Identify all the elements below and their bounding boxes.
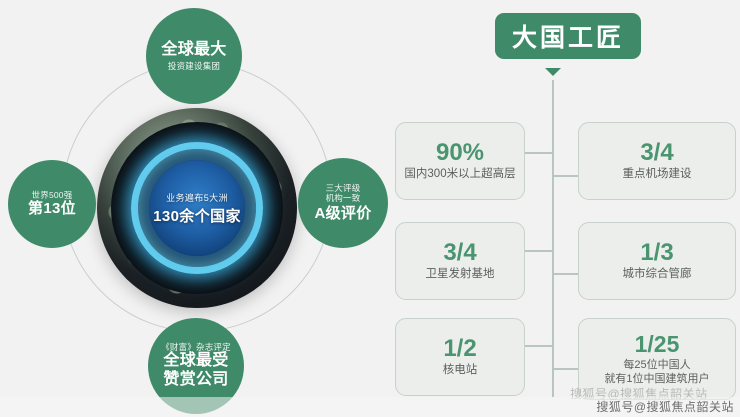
infographic-page: 业务遍布5大洲 130余个国家 全球最大 投资建设集团 世界500强 第13位 … (0, 0, 740, 417)
connector-line (552, 273, 580, 275)
stat-card-nuclear-plants[interactable]: 1/2 核电站 (395, 318, 525, 396)
node-largest-investment-group[interactable]: 全球最大 投资建设集团 (146, 8, 242, 104)
globe-center-subtitle: 业务遍布5大洲 (166, 191, 228, 204)
node-right-title: A级评价 (314, 205, 371, 223)
stat-label-line: 每25位中国人 (604, 358, 709, 372)
stat-label-line: 重点机场建设 (623, 167, 692, 182)
globe-center-title: 130余个国家 (153, 205, 241, 226)
page-title: 大国工匠 (495, 13, 641, 59)
stat-value: 1/25 (635, 332, 680, 356)
stat-label: 卫星发射基地 (426, 267, 495, 282)
stat-label-line: 国内300米以上超高层 (404, 167, 515, 182)
stat-card-satellite-launch-bases[interactable]: 3/4 卫星发射基地 (395, 222, 525, 300)
watermark-bar: 搜狐号@搜狐焦点韶关站 (0, 397, 740, 417)
node-fortune-500-rank[interactable]: 世界500强 第13位 (8, 160, 96, 248)
stat-label: 城市综合管廊 (623, 267, 692, 282)
stat-value: 90% (436, 140, 484, 165)
connector-line (524, 250, 553, 252)
node-left-subtitle: 世界500强 (32, 190, 73, 200)
watermark-text: 搜狐号@搜狐焦点韶关站 (596, 398, 734, 415)
node-right-subtitle-line1: 三大评级 (326, 183, 361, 193)
globe-center-text: 业务遍布5大洲 130余个国家 (149, 160, 245, 256)
stat-card-key-airports[interactable]: 3/4 重点机场建设 (578, 122, 736, 200)
globe-illustration: 业务遍布5大洲 130余个国家 (97, 108, 297, 308)
stat-label-line: 核电站 (443, 363, 478, 378)
chevron-down-icon (545, 68, 561, 76)
connector-line (524, 345, 553, 347)
node-top-title: 全球最大 (161, 41, 226, 60)
stat-label-line: 城市综合管廊 (623, 267, 692, 282)
stat-value: 1/2 (443, 336, 476, 361)
node-top-subtitle: 投资建设集团 (168, 61, 220, 71)
stat-card-utility-tunnels[interactable]: 1/3 城市综合管廊 (578, 222, 736, 300)
connector-line (552, 368, 580, 370)
stat-label: 国内300米以上超高层 (404, 167, 515, 182)
stat-label-line: 卫星发射基地 (426, 267, 495, 282)
node-bottom-subtitle: 《财富》杂志评定 (161, 342, 231, 352)
stat-value: 3/4 (443, 240, 476, 265)
stat-label: 核电站 (443, 363, 478, 378)
stat-label: 重点机场建设 (623, 167, 692, 182)
stat-card-super-highrise[interactable]: 90% 国内300米以上超高层 (395, 122, 525, 200)
connector-line (524, 152, 553, 154)
stat-label: 每25位中国人 就有1位中国建筑用户 (604, 358, 709, 387)
connector-line (552, 175, 580, 177)
node-credit-rating[interactable]: 三大评级 机构一致 A级评价 (298, 158, 388, 248)
stat-value: 3/4 (640, 140, 673, 165)
statistics-panel: 大国工匠 90% 国内300米以上超高层 3/4 重点机场建设 3/4 卫星发射… (392, 0, 740, 417)
node-bottom-title-line2: 赞赏公司 (163, 371, 228, 390)
node-right-subtitle-line2: 机构一致 (326, 193, 361, 203)
tree-trunk-line (552, 80, 554, 397)
node-left-title: 第13位 (28, 200, 76, 218)
stat-value: 1/3 (640, 240, 673, 265)
globe-infographic-panel: 业务遍布5大洲 130余个国家 全球最大 投资建设集团 世界500强 第13位 … (0, 0, 392, 417)
node-bottom-title-line1: 全球最受 (163, 352, 228, 371)
